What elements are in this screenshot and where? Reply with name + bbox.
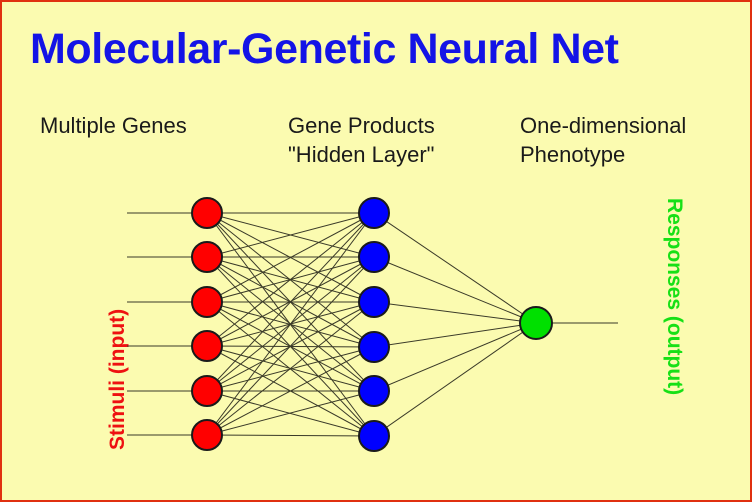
node-output-1[interactable] (520, 307, 552, 339)
edge-input-hidden (207, 435, 374, 436)
edge-hidden-output (374, 323, 536, 347)
edge-hidden-output (374, 302, 536, 323)
node-group (192, 198, 552, 451)
neural-network-graph (2, 2, 752, 502)
node-input-4[interactable] (192, 331, 222, 361)
edge-hidden-output (374, 323, 536, 391)
slide-canvas: Molecular-Genetic Neural Net Multiple Ge… (0, 0, 752, 502)
node-hidden-5[interactable] (359, 376, 389, 406)
node-input-5[interactable] (192, 376, 222, 406)
node-input-2[interactable] (192, 242, 222, 272)
node-input-6[interactable] (192, 420, 222, 450)
node-hidden-3[interactable] (359, 287, 389, 317)
edge-hidden-output (374, 213, 536, 323)
node-hidden-6[interactable] (359, 421, 389, 451)
node-input-1[interactable] (192, 198, 222, 228)
edge-hidden-output (374, 257, 536, 323)
node-hidden-2[interactable] (359, 242, 389, 272)
edge-hidden-output (374, 323, 536, 436)
node-input-3[interactable] (192, 287, 222, 317)
node-hidden-4[interactable] (359, 332, 389, 362)
node-hidden-1[interactable] (359, 198, 389, 228)
